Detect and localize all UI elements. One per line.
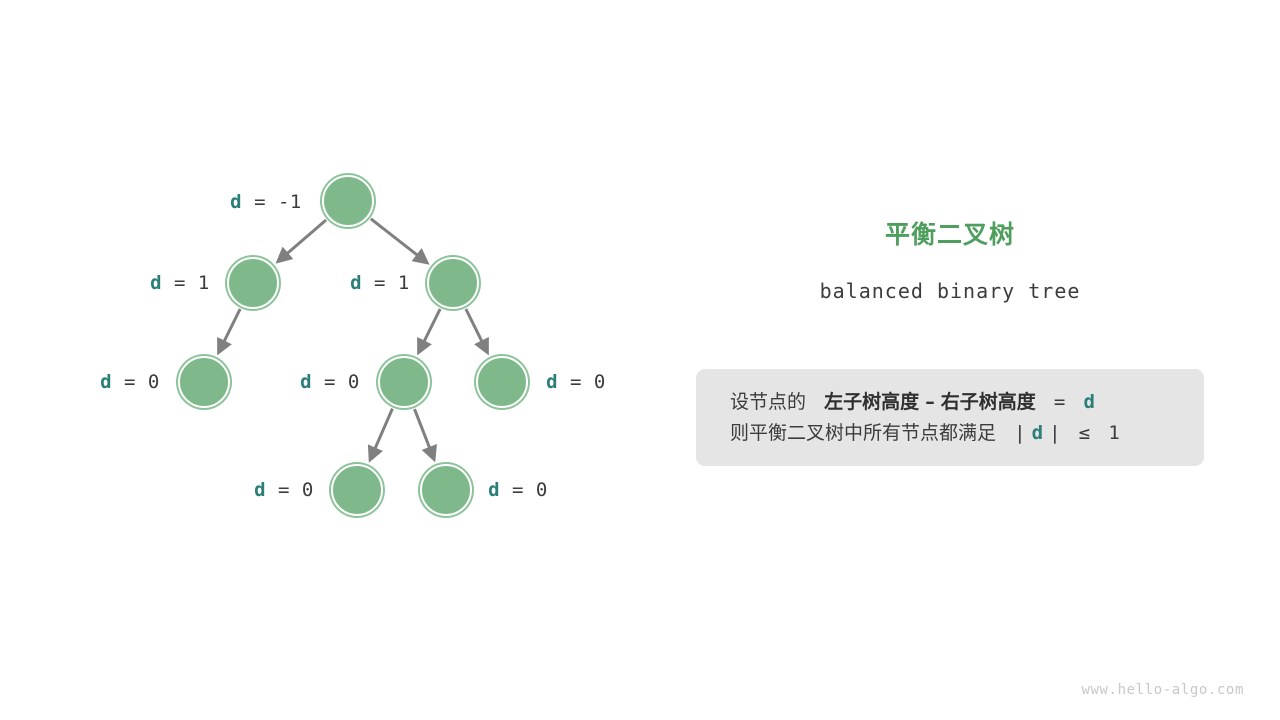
site-watermark: www.hello-algo.com (1081, 682, 1244, 698)
tree-node[interactable] (476, 356, 528, 408)
balance-var: d (254, 479, 266, 501)
balance-value: = 1 (162, 272, 210, 294)
node-balance-label: d = 0 (100, 371, 160, 393)
balance-value: = 0 (266, 479, 314, 501)
right-subtree-height-term: 右子树高度 (941, 391, 1036, 413)
balance-var: d (546, 371, 558, 393)
node-balance-label: d = 1 (350, 272, 410, 294)
threshold-value: 1 (1108, 422, 1119, 444)
balance-value: = 1 (362, 272, 410, 294)
node-balance-label: d = 0 (254, 479, 314, 501)
node-balance-label: d = 1 (150, 272, 210, 294)
tree-node[interactable] (427, 257, 479, 309)
tree-node[interactable] (227, 257, 279, 309)
binary-tree-diagram: d = -1d = 1d = 1d = 0d = 0d = 0d = 0d = … (0, 0, 680, 720)
balance-var: d (350, 272, 362, 294)
balance-var: d (300, 371, 312, 393)
balance-value: = 0 (312, 371, 360, 393)
balance-value: = 0 (112, 371, 160, 393)
tree-edge (370, 409, 392, 460)
abs-bar-open: | (1014, 422, 1025, 444)
tree-edges (0, 0, 680, 720)
equals-operator: = (1054, 391, 1065, 413)
balance-value: = 0 (558, 371, 606, 393)
tree-edge (371, 219, 427, 263)
left-subtree-height-term: 左子树高度 (824, 391, 919, 413)
node-balance-label: d = 0 (488, 479, 548, 501)
node-balance-label: d = 0 (300, 371, 360, 393)
definition-box: 设节点的 左子树高度 – 右子树高度 = d 则平衡二叉树中所有节点都满足 | … (696, 369, 1204, 466)
minus-operator: – (925, 391, 935, 413)
definition-line-2: 则平衡二叉树中所有节点都满足 | d | ≤ 1 (730, 418, 1204, 449)
balance-factor-var-2: d (1032, 422, 1043, 444)
balance-var: d (488, 479, 500, 501)
less-equal-operator: ≤ (1079, 422, 1090, 444)
info-panel: 平衡二叉树 balanced binary tree (696, 215, 1204, 303)
tree-edge (419, 309, 440, 352)
tree-node[interactable] (378, 356, 430, 408)
balance-factor-var: d (1084, 391, 1095, 413)
node-balance-label: d = 0 (546, 371, 606, 393)
definition-condition-prefix: 则平衡二叉树中所有节点都满足 (730, 422, 996, 444)
node-balance-label: d = -1 (230, 191, 302, 213)
tree-edge (415, 409, 435, 459)
balance-var: d (100, 371, 112, 393)
tree-node[interactable] (178, 356, 230, 408)
tree-node[interactable] (322, 175, 374, 227)
diagram-canvas: d = -1d = 1d = 1d = 0d = 0d = 0d = 0d = … (0, 0, 1280, 720)
abs-bar-close: | (1049, 422, 1060, 444)
tree-edge (466, 309, 487, 352)
balance-var: d (230, 191, 242, 213)
definition-line-1: 设节点的 左子树高度 – 右子树高度 = d (730, 387, 1204, 418)
balance-value: = 0 (500, 479, 548, 501)
tree-node[interactable] (420, 464, 472, 516)
tree-node[interactable] (331, 464, 383, 516)
balance-var: d (150, 272, 162, 294)
tree-edge (278, 220, 326, 261)
definition-prefix: 设节点的 (730, 391, 806, 413)
panel-title: 平衡二叉树 (696, 215, 1204, 251)
balance-value: = -1 (242, 191, 302, 213)
tree-edge (219, 309, 240, 352)
panel-subtitle: balanced binary tree (696, 279, 1204, 303)
